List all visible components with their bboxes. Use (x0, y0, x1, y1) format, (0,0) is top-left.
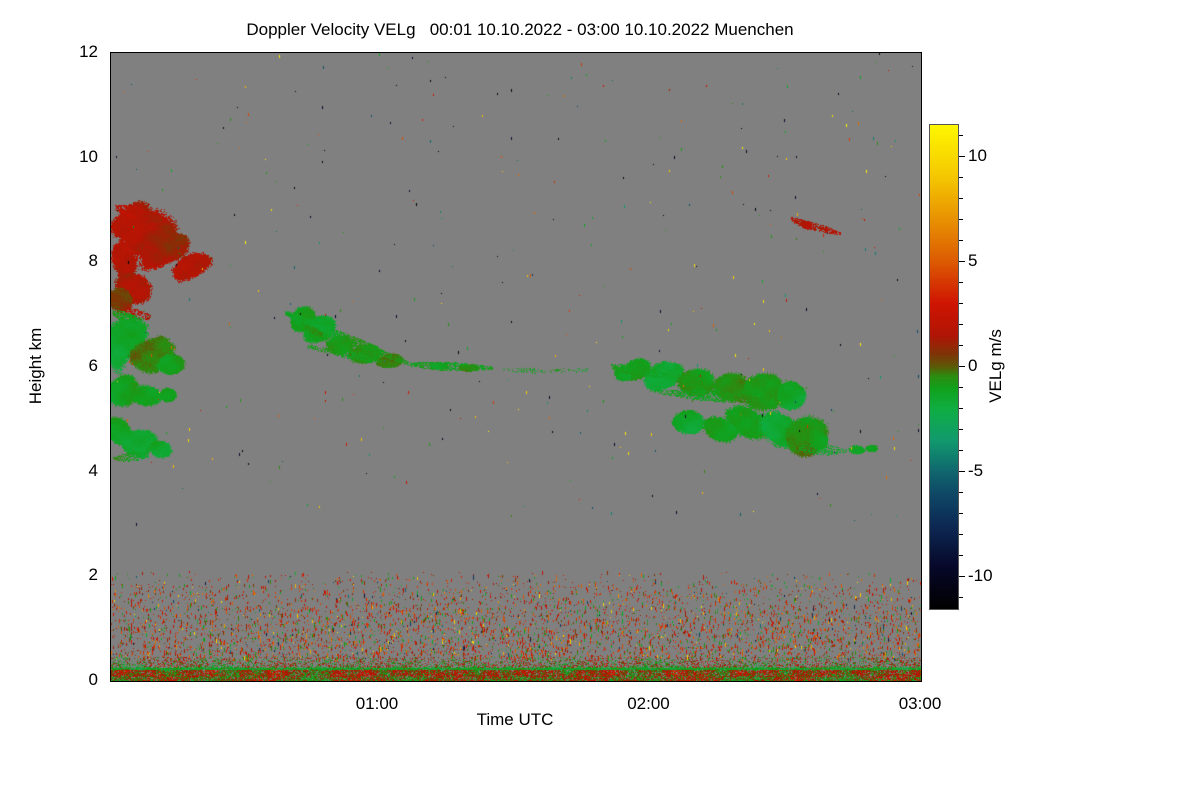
x-axis-minor-tick (152, 681, 153, 682)
x-axis-minor-tick (830, 681, 831, 682)
y-axis-tick (110, 53, 111, 54)
colorbar-tick (959, 576, 965, 577)
x-axis-minor-tick (197, 52, 198, 53)
x-axis-tick (378, 681, 379, 682)
x-axis-minor-tick (468, 52, 469, 53)
y-axis-tick (921, 53, 922, 54)
colorbar-tick-label: 10 (968, 146, 987, 166)
x-axis-minor-tick (197, 681, 198, 682)
y-axis-tick (921, 367, 922, 368)
colorbar-tick-label: -5 (968, 461, 983, 481)
colorbar-minor-tick (959, 534, 963, 535)
y-axis-tick (921, 576, 922, 577)
colorbar-tick (959, 471, 965, 472)
y-axis-tick-label: 4 (89, 461, 98, 481)
y-axis-minor-tick (921, 603, 922, 604)
y-axis-minor-tick (110, 210, 111, 211)
y-axis-minor-tick (110, 236, 111, 237)
y-axis-minor-tick (921, 341, 922, 342)
colorbar-minor-tick (959, 135, 963, 136)
colorbar-minor-tick (959, 408, 963, 409)
y-axis-tick-label: 12 (79, 42, 98, 62)
doppler-velocity-plot: Doppler Velocity VELg 00:01 10.10.2022 -… (0, 0, 1200, 800)
y-axis-tick (110, 262, 111, 263)
y-axis-minor-tick (921, 105, 922, 106)
x-axis-tick (921, 52, 922, 53)
y-axis-minor-tick (110, 315, 111, 316)
y-axis-minor-tick (921, 315, 922, 316)
colorbar-minor-tick (959, 555, 963, 556)
y-axis-minor-tick (921, 132, 922, 133)
colorbar-minor-tick (959, 177, 963, 178)
y-axis-minor-tick (110, 524, 111, 525)
y-axis-minor-tick (110, 446, 111, 447)
y-axis-minor-tick (110, 550, 111, 551)
x-axis-minor-tick (152, 52, 153, 53)
x-axis-minor-tick (333, 52, 334, 53)
colorbar-tick (959, 156, 965, 157)
x-axis-minor-tick (559, 681, 560, 682)
y-axis-label: Height km (26, 328, 46, 405)
y-axis-tick-label: 6 (89, 356, 98, 376)
x-axis-minor-tick (287, 52, 288, 53)
colorbar-minor-tick (959, 324, 963, 325)
y-axis-minor-tick (921, 524, 922, 525)
x-axis-minor-tick (876, 681, 877, 682)
y-axis-minor-tick (921, 655, 922, 656)
y-axis-tick-label: 8 (89, 251, 98, 271)
y-axis-minor-tick (110, 603, 111, 604)
x-axis-minor-tick (785, 681, 786, 682)
colorbar-tick-label: 5 (968, 251, 977, 271)
colorbar-minor-tick (959, 282, 963, 283)
x-axis-minor-tick (514, 52, 515, 53)
y-axis-tick-label: 2 (89, 565, 98, 585)
y-axis-tick (921, 262, 922, 263)
y-axis-tick (921, 681, 922, 682)
x-axis-tick (649, 52, 650, 53)
x-axis-minor-tick (604, 52, 605, 53)
colorbar-minor-tick (959, 198, 963, 199)
colorbar-minor-tick (959, 303, 963, 304)
y-axis-tick (110, 472, 111, 473)
y-axis-tick (110, 681, 111, 682)
x-axis-minor-tick (559, 52, 560, 53)
y-axis-minor-tick (921, 419, 922, 420)
colorbar-minor-tick (959, 492, 963, 493)
colorbar-minor-tick (959, 450, 963, 451)
y-axis-minor-tick (110, 655, 111, 656)
x-axis-minor-tick (785, 52, 786, 53)
x-axis-minor-tick (333, 681, 334, 682)
y-axis-minor-tick (921, 393, 922, 394)
x-axis-minor-tick (740, 52, 741, 53)
x-axis-minor-tick (604, 681, 605, 682)
x-axis-minor-tick (242, 52, 243, 53)
x-axis-minor-tick (514, 681, 515, 682)
colorbar-tick-label: 0 (968, 356, 977, 376)
colorbar-minor-tick (959, 429, 963, 430)
y-axis-minor-tick (110, 132, 111, 133)
y-axis-minor-tick (110, 419, 111, 420)
y-axis-tick (921, 158, 922, 159)
y-axis-minor-tick (921, 289, 922, 290)
colorbar-minor-tick (959, 513, 963, 514)
x-axis-minor-tick (287, 681, 288, 682)
x-axis-minor-tick (468, 681, 469, 682)
x-axis-tick (921, 681, 922, 682)
x-axis-tick (649, 681, 650, 682)
y-axis-minor-tick (921, 550, 922, 551)
y-axis-minor-tick (921, 498, 922, 499)
y-axis-minor-tick (921, 79, 922, 80)
y-axis-minor-tick (921, 629, 922, 630)
x-axis-minor-tick (876, 52, 877, 53)
y-axis-minor-tick (921, 210, 922, 211)
chart-title: Doppler Velocity VELg 00:01 10.10.2022 -… (0, 20, 1040, 40)
colorbar-tick (959, 366, 965, 367)
heatmap-canvas (111, 53, 921, 681)
y-axis-tick-label: 10 (79, 147, 98, 167)
y-axis-minor-tick (921, 446, 922, 447)
y-axis-minor-tick (110, 184, 111, 185)
y-axis-minor-tick (110, 393, 111, 394)
colorbar (929, 124, 959, 610)
colorbar-minor-tick (959, 387, 963, 388)
colorbar-minor-tick (959, 597, 963, 598)
x-axis-label: Time UTC (110, 710, 920, 730)
x-axis-minor-tick (830, 52, 831, 53)
x-axis-minor-tick (423, 52, 424, 53)
colorbar-minor-tick (959, 240, 963, 241)
y-axis-minor-tick (110, 79, 111, 80)
y-axis-tick (110, 576, 111, 577)
x-axis-minor-tick (695, 52, 696, 53)
x-axis-minor-tick (423, 681, 424, 682)
x-axis-minor-tick (242, 681, 243, 682)
plot-area (110, 52, 922, 682)
y-axis-minor-tick (110, 289, 111, 290)
y-axis-minor-tick (110, 498, 111, 499)
colorbar-tick (959, 261, 965, 262)
y-axis-minor-tick (110, 629, 111, 630)
colorbar-label: VELg m/s (986, 329, 1006, 403)
y-axis-tick (921, 472, 922, 473)
y-axis-minor-tick (921, 236, 922, 237)
x-axis-tick (378, 52, 379, 53)
y-axis-tick (110, 367, 111, 368)
x-axis-minor-tick (740, 681, 741, 682)
y-axis-minor-tick (921, 184, 922, 185)
x-axis-minor-tick (695, 681, 696, 682)
y-axis-minor-tick (110, 105, 111, 106)
colorbar-minor-tick (959, 345, 963, 346)
colorbar-minor-tick (959, 219, 963, 220)
colorbar-gradient (930, 125, 958, 609)
colorbar-tick-label: -10 (968, 566, 993, 586)
y-axis-tick (110, 158, 111, 159)
y-axis-tick-label: 0 (89, 670, 98, 690)
y-axis-minor-tick (110, 341, 111, 342)
